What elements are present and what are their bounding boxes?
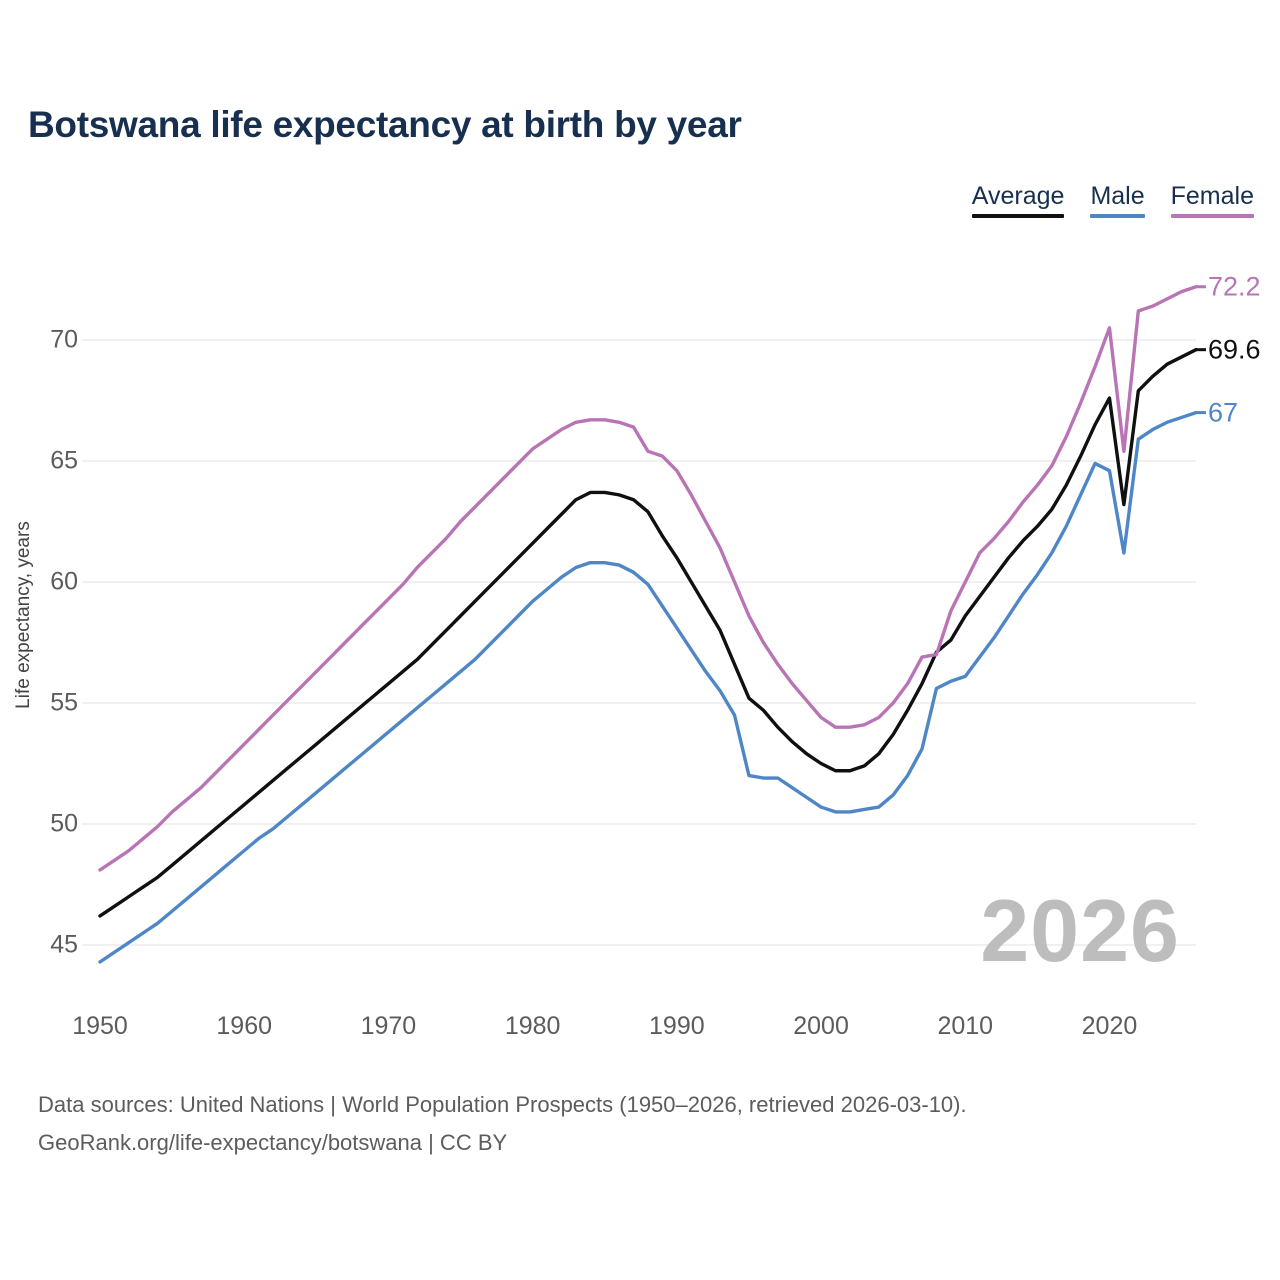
y-tick-label: 50 bbox=[18, 810, 78, 839]
gridlines bbox=[82, 340, 1196, 945]
y-tick-label: 55 bbox=[18, 689, 78, 718]
y-tick-label: 45 bbox=[18, 931, 78, 960]
footer-line-sources: Data sources: United Nations | World Pop… bbox=[38, 1086, 967, 1124]
y-tick-label: 60 bbox=[18, 568, 78, 597]
x-tick-label: 2020 bbox=[1059, 1012, 1159, 1041]
male-end-label: 67 bbox=[1208, 397, 1238, 428]
series-line-average[interactable] bbox=[100, 350, 1196, 916]
chart-footer: Data sources: United Nations | World Pop… bbox=[38, 1086, 967, 1162]
y-tick-label: 70 bbox=[18, 326, 78, 355]
x-tick-label: 1950 bbox=[50, 1012, 150, 1041]
end-connectors bbox=[1196, 287, 1206, 413]
y-tick-label: 65 bbox=[18, 447, 78, 476]
watermark-year: 2026 bbox=[980, 880, 1180, 982]
series-lines bbox=[100, 287, 1196, 962]
chart-container: Botswana life expectancy at birth by yea… bbox=[0, 0, 1280, 1280]
x-tick-label: 1960 bbox=[194, 1012, 294, 1041]
x-tick-label: 2010 bbox=[915, 1012, 1015, 1041]
x-tick-label: 1970 bbox=[338, 1012, 438, 1041]
footer-line-attribution: GeoRank.org/life-expectancy/botswana | C… bbox=[38, 1124, 967, 1162]
average-end-label: 69.6 bbox=[1208, 334, 1261, 365]
x-tick-label: 2000 bbox=[771, 1012, 871, 1041]
female-end-label: 72.2 bbox=[1208, 271, 1261, 302]
x-tick-label: 1980 bbox=[483, 1012, 583, 1041]
x-tick-label: 1990 bbox=[627, 1012, 727, 1041]
y-axis-title: Life expectancy, years bbox=[13, 521, 35, 709]
series-line-female[interactable] bbox=[100, 287, 1196, 870]
